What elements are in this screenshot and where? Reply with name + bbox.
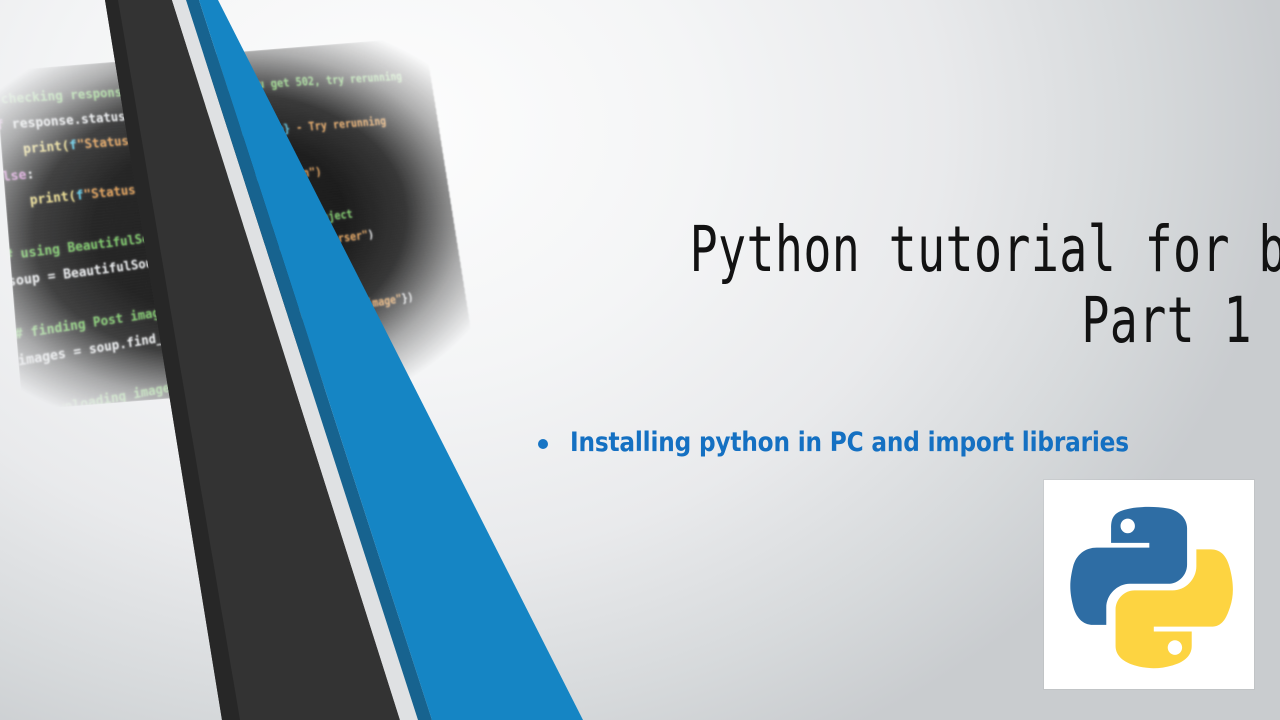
title-line-1: Python tutorial for beginners bbox=[690, 214, 1252, 285]
python-logo-icon bbox=[1061, 497, 1237, 673]
subtitle-bullet-item: Installing python in PC and import libra… bbox=[538, 427, 1220, 458]
subtitle-text: Installing python in PC and import libra… bbox=[570, 427, 1129, 458]
slide-canvas: .get(url) # checking response.status_cod… bbox=[0, 0, 1280, 720]
bullet-dot-icon bbox=[538, 439, 548, 449]
slide-title: Python tutorial for beginners Part 1 bbox=[492, 214, 1252, 356]
python-logo-card bbox=[1044, 480, 1254, 689]
title-line-2: Part 1 bbox=[690, 285, 1252, 356]
